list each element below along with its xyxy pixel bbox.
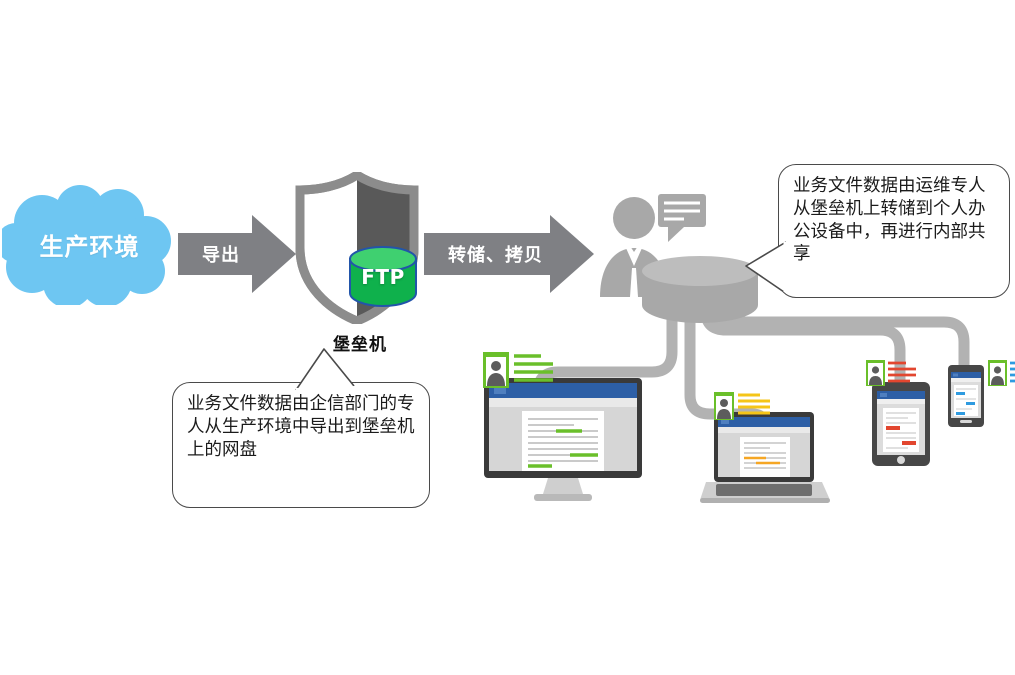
connector-pipes (0, 0, 1015, 675)
avatar-card-blue (988, 360, 1015, 390)
callout-share-note: 业务文件数据由运维专人从堡垒机上转储到个人办公设备中，再进行内部共享 (778, 164, 1010, 298)
callout-export-pointer (290, 345, 370, 393)
diagram-canvas: 生产环境 导出 FTP 堡垒机 转储、拷贝 (0, 0, 1015, 675)
smartphone-icon (948, 365, 984, 427)
contact-card-icon (714, 392, 772, 420)
device-laptop (700, 412, 830, 507)
laptop-icon (700, 412, 830, 507)
desktop-monitor-icon (478, 378, 648, 503)
device-tablet (872, 382, 930, 466)
contact-card-icon (866, 360, 918, 386)
avatar-card-orange (714, 392, 772, 424)
callout-share-pointer (742, 236, 792, 298)
avatar-card-green (483, 352, 555, 392)
device-phone (948, 365, 984, 427)
callout-export-note: 业务文件数据由企信部门的专人从生产环境中导出到堡垒机上的网盘 (172, 382, 430, 508)
avatar-card-red (866, 360, 918, 390)
device-desktop-monitor (478, 378, 648, 503)
tablet-icon (872, 382, 930, 466)
contact-card-icon (483, 352, 555, 388)
contact-card-icon (988, 360, 1015, 386)
